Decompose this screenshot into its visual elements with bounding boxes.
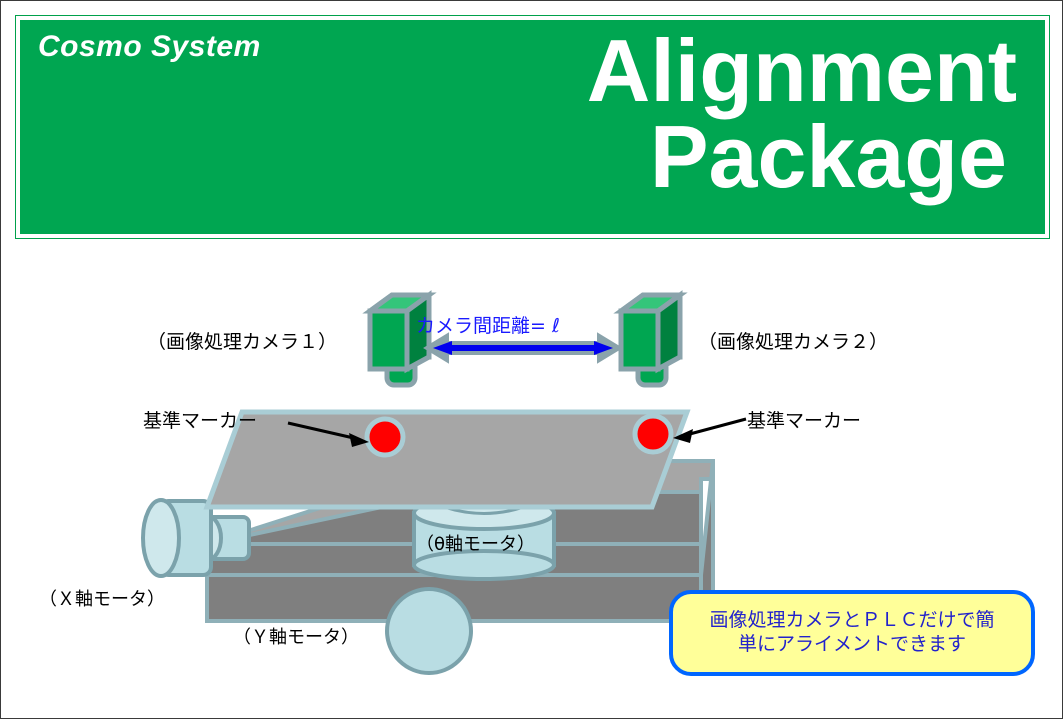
reference-marker-left [367, 419, 403, 455]
camera-distance-arrow [425, 334, 621, 362]
camera-2 [621, 295, 680, 385]
x-axis-motor-label: （Ｘ軸モータ） [39, 585, 165, 611]
page-title-line-2: Package [20, 114, 1017, 200]
camera-1 [370, 295, 429, 385]
callout-box: 画像処理カメラとＰＬＣだけで簡 単にアライメントできます [669, 590, 1035, 676]
header-banner-frame: Cosmo System Alignment Package [15, 15, 1050, 239]
camera-2-label: （画像処理カメラ２） [698, 327, 888, 354]
camera-1-label: （画像処理カメラ１） [147, 327, 337, 354]
header-banner: Cosmo System Alignment Package [20, 20, 1045, 234]
reference-marker-right [635, 416, 671, 452]
y-axis-motor [387, 589, 471, 673]
theta-axis-motor-label: （θ軸モータ） [416, 530, 535, 556]
stage-top-plate [207, 412, 687, 507]
page-root: Cosmo System Alignment Package [0, 0, 1063, 719]
reference-marker-right-label: 基準マーカー [747, 406, 861, 433]
y-axis-motor-label: （Ｙ軸モータ） [233, 623, 359, 649]
callout-text: 画像処理カメラとＰＬＣだけで簡 単にアライメントできます [709, 609, 994, 657]
page-title: Alignment Package [20, 28, 1017, 200]
page-title-line-1: Alignment [20, 28, 1017, 114]
callout-line-2: 単にアライメントできます [738, 633, 966, 655]
camera-distance-label: カメラ間距離= ℓ [416, 311, 560, 338]
callout-line-1: 画像処理カメラとＰＬＣだけで簡 [709, 609, 994, 631]
reference-marker-left-label: 基準マーカー [143, 406, 257, 433]
